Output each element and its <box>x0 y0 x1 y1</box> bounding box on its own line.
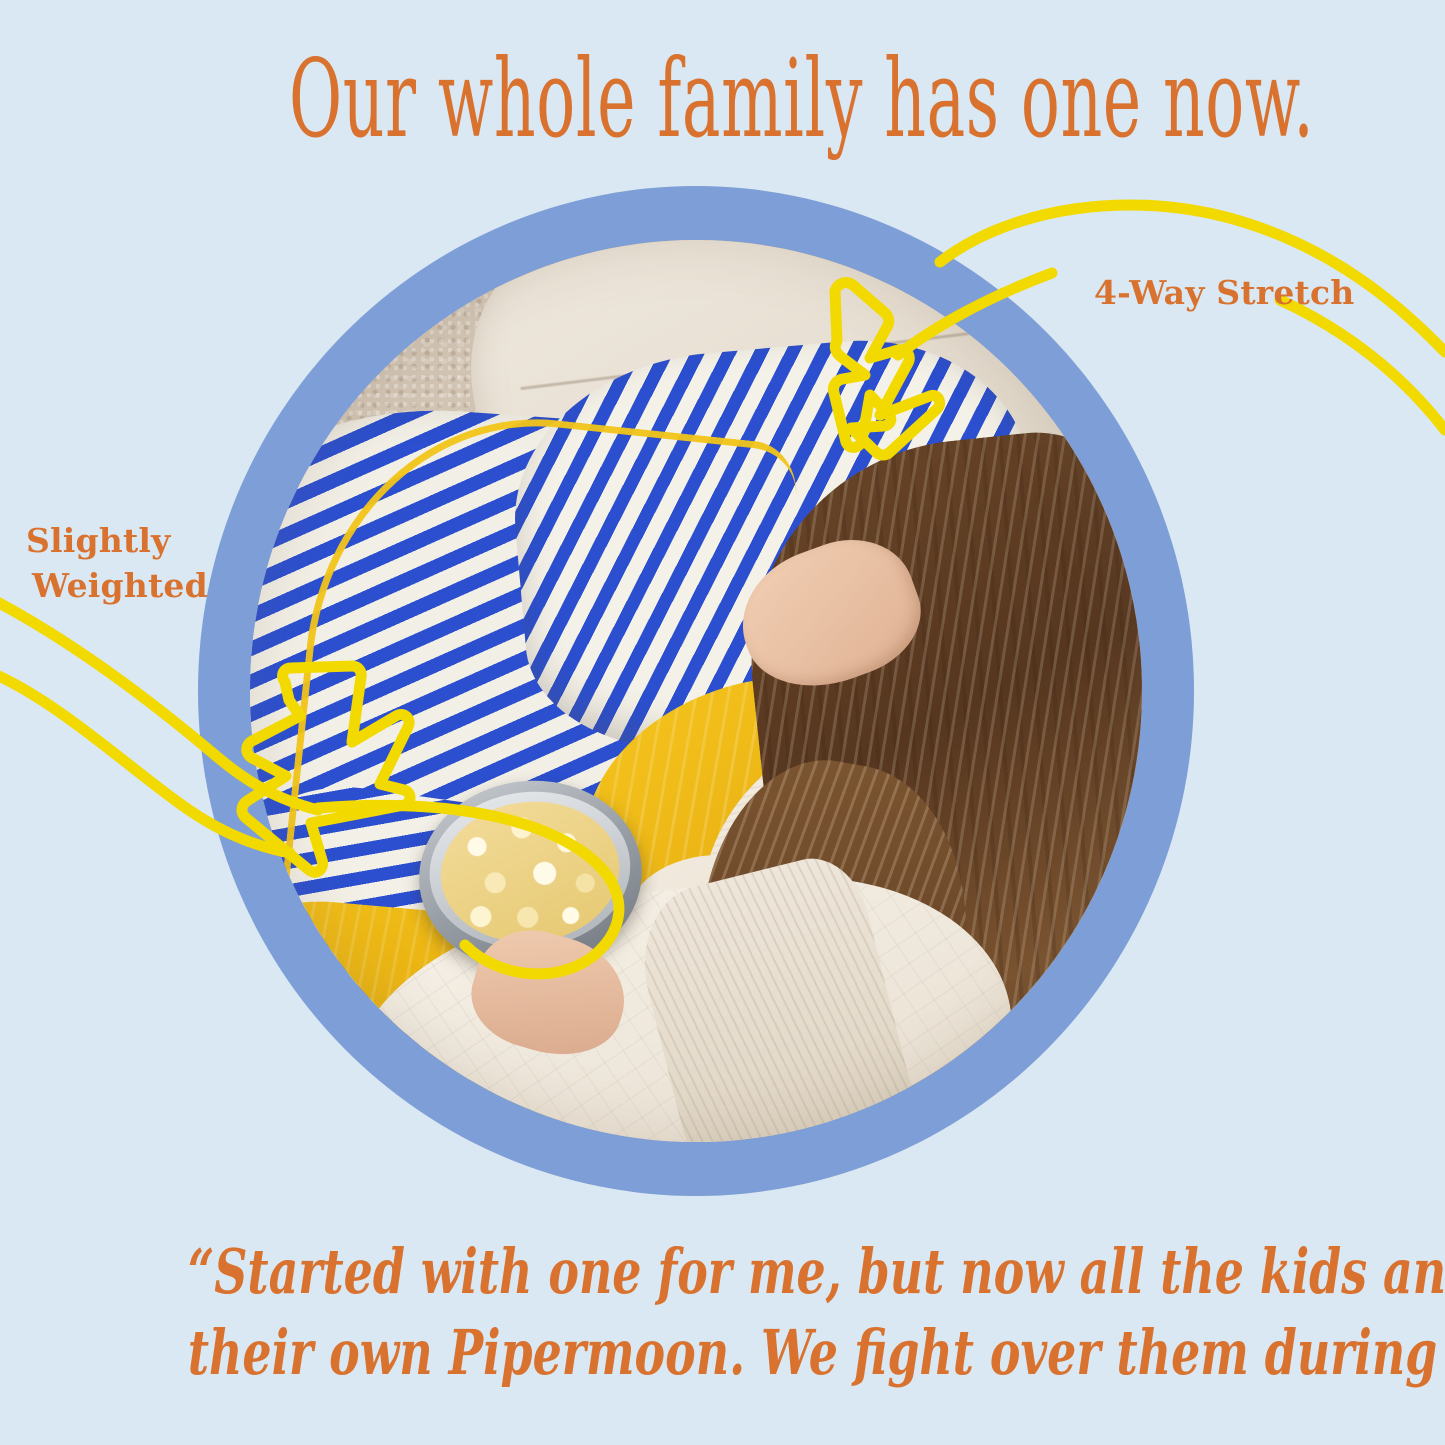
testimonial-quote: “Started with one for me, but now all th… <box>188 1232 1257 1393</box>
quote-line-2: their own Pipermoon. We fight over them … <box>188 1313 1257 1394</box>
callout-label-4-way-stretch: 4-Way Stretch <box>1094 271 1354 316</box>
product-photo <box>250 240 1142 1142</box>
callout-label-slightly-weighted: Slightly Weighted <box>26 519 256 608</box>
quote-line-1: “Started with one for me, but now all th… <box>188 1232 1257 1313</box>
stretch-curve-inner <box>1280 300 1445 430</box>
page-title: Our whole family has one now. <box>289 46 1156 154</box>
callout-label-line-1: Slightly <box>26 521 171 560</box>
poster-canvas: Our whole family has one now. <box>0 0 1445 1445</box>
callout-label-line-2: Weighted <box>26 564 256 609</box>
photo-ring <box>198 186 1194 1196</box>
